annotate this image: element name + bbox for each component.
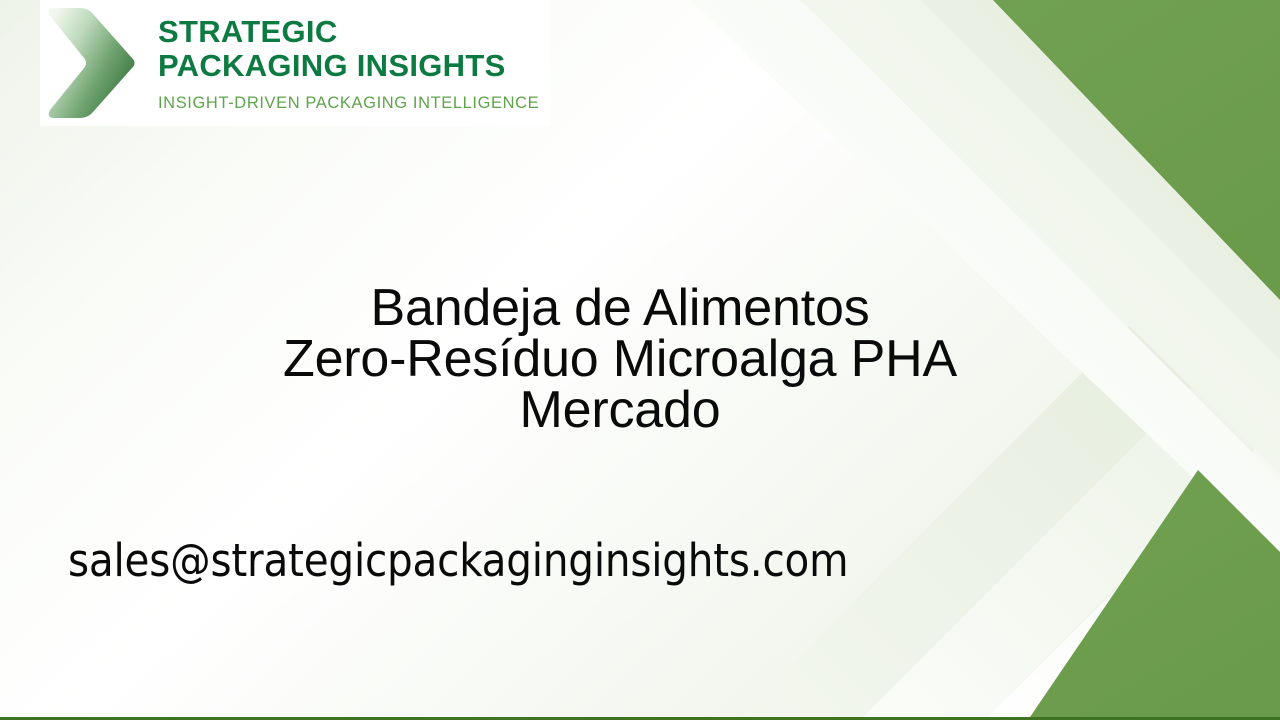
title-slide: STRATEGIC PACKAGING INSIGHTS INSIGHT-DRI…: [0, 0, 1280, 720]
green-wedge-top-right: [993, 0, 1280, 300]
page-title: Bandeja de Alimentos Zero-Resíduo Microa…: [180, 283, 1060, 436]
pale-band-outer: [735, 175, 1280, 717]
pale-band-inner: [985, 425, 1280, 717]
brand-name-line-1: STRATEGIC: [158, 16, 550, 47]
brand-name-line-2: PACKAGING INSIGHTS: [158, 50, 550, 81]
contact-email[interactable]: sales@strategicpackaginginsights.com: [68, 535, 848, 587]
brand-logo-text: STRATEGIC PACKAGING INSIGHTS INSIGHT-DRI…: [152, 14, 550, 112]
chevron-right-icon: [40, 0, 152, 126]
green-triangle-bottom-right: [1030, 470, 1280, 717]
brand-tagline: INSIGHT-DRIVEN PACKAGING INTELLIGENCE: [158, 94, 550, 112]
brand-logo: STRATEGIC PACKAGING INSIGHTS INSIGHT-DRI…: [40, 0, 550, 126]
